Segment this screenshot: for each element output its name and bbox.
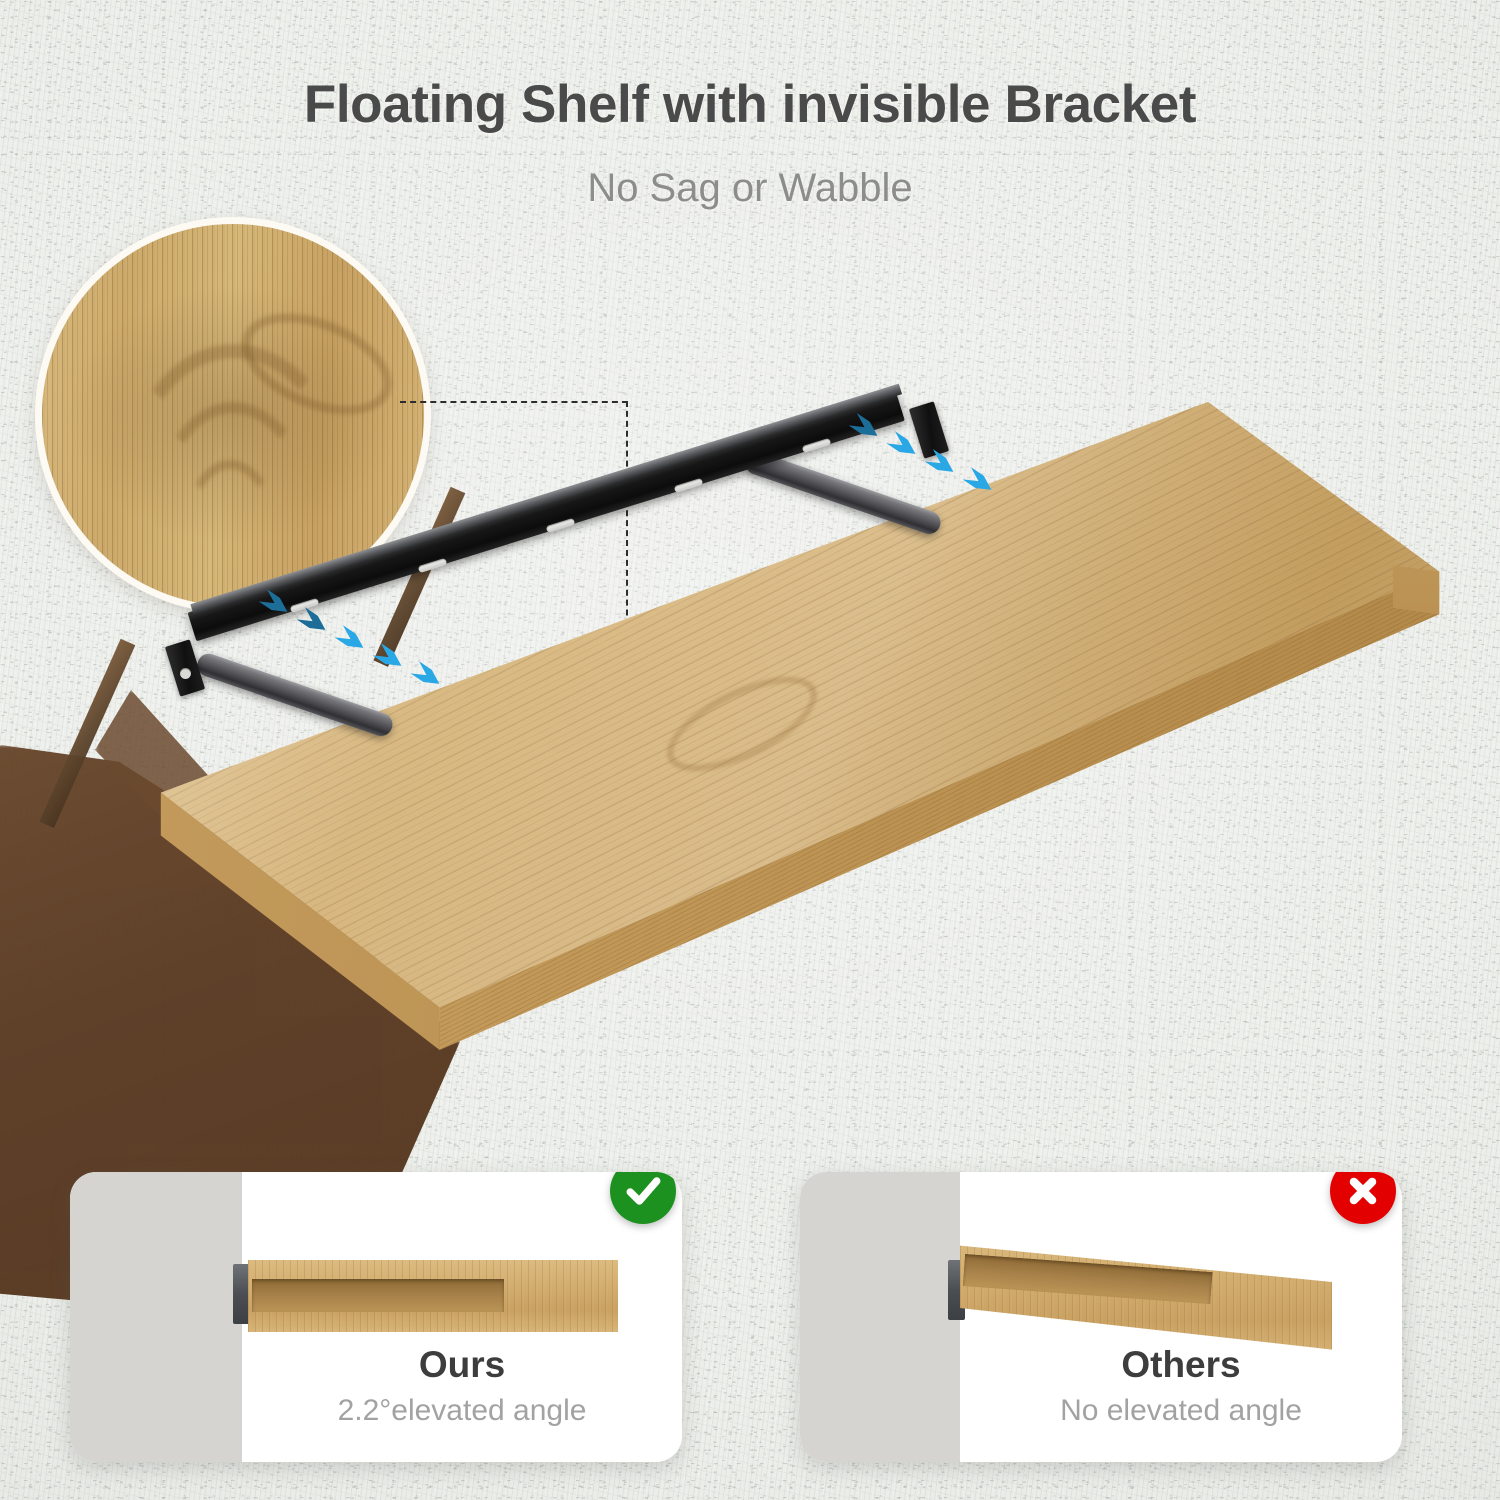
shelf-profile-groove — [252, 1279, 504, 1312]
bracket-end-screw-hole — [180, 668, 191, 679]
shelf-profile-others — [960, 1230, 1332, 1360]
page-subtitle: No Sag or Wabble — [0, 166, 1500, 211]
panel-title-ours: Ours — [70, 1344, 682, 1386]
panel-subtitle-others: No elevated angle — [800, 1394, 1402, 1428]
product-infographic: Floating Shelf with invisible Bracket No… — [0, 0, 1500, 1500]
cross-icon — [1330, 1172, 1396, 1224]
comparison-panel-ours: Ours 2.2°elevated angle — [70, 1172, 682, 1462]
bracket-end-tab-right — [909, 401, 949, 458]
page-title: Floating Shelf with invisible Bracket — [0, 74, 1500, 135]
shelf-profile-ours — [248, 1260, 618, 1332]
panel-subtitle-ours: 2.2°elevated angle — [70, 1394, 682, 1428]
panel-title-others: Others — [800, 1344, 1402, 1386]
invisible-bracket-assembly — [150, 380, 950, 720]
bracket-bar-top-bevel — [190, 384, 902, 615]
check-icon — [610, 1172, 676, 1224]
comparison-panel-others: Others No elevated angle — [800, 1172, 1402, 1462]
